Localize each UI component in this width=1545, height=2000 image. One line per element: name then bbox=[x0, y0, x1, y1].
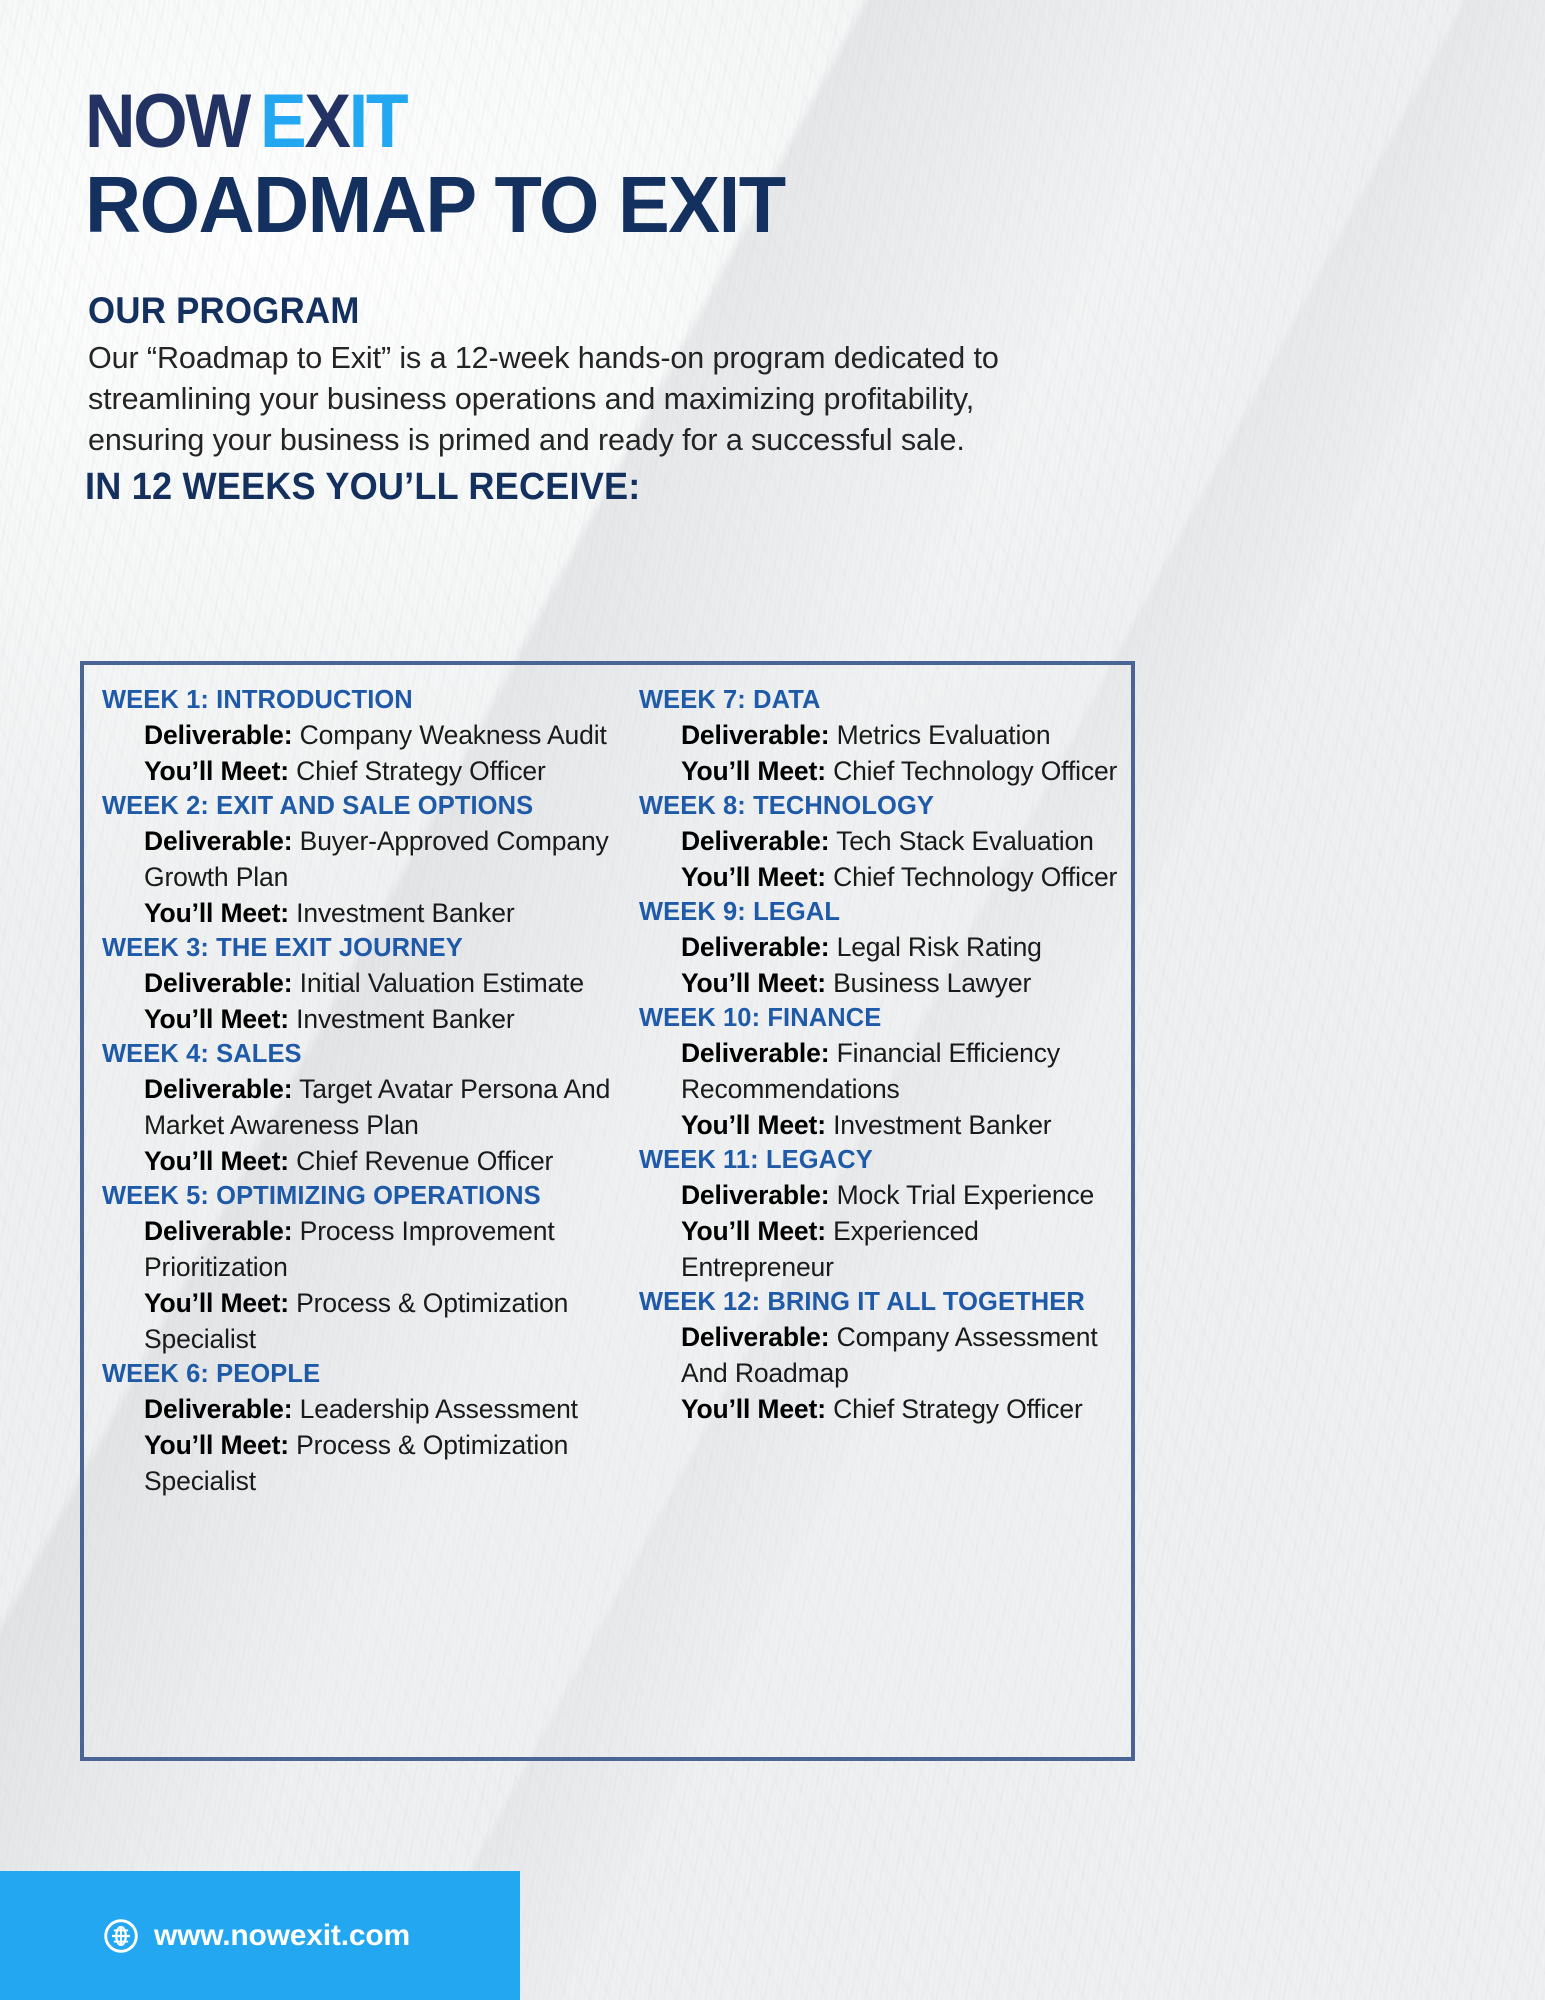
week-deliverable-line: Deliverable: Metrics Evaluation bbox=[681, 717, 1127, 753]
week-details: Deliverable: Target Avatar Persona And M… bbox=[102, 1071, 618, 1179]
meet-label: You’ll Meet: bbox=[144, 1430, 289, 1460]
weeks-column-right: WEEK 7: DATADeliverable: Metrics Evaluat… bbox=[622, 665, 1131, 1757]
deliverable-label: Deliverable: bbox=[681, 1038, 829, 1068]
weeks-column-left: WEEK 1: INTRODUCTIONDeliverable: Company… bbox=[84, 665, 622, 1757]
footer-bar: www.nowexit.com bbox=[0, 1871, 520, 2000]
week-title: WEEK 8: TECHNOLOGY bbox=[639, 789, 1127, 823]
week-entry: WEEK 8: TECHNOLOGYDeliverable: Tech Stac… bbox=[639, 789, 1127, 895]
week-entry: WEEK 5: OPTIMIZING OPERATIONSDeliverable… bbox=[102, 1179, 618, 1357]
week-entry: WEEK 4: SALESDeliverable: Target Avatar … bbox=[102, 1037, 618, 1179]
week-entry: WEEK 1: INTRODUCTIONDeliverable: Company… bbox=[102, 683, 618, 789]
week-deliverable-line: Deliverable: Mock Trial Experience bbox=[681, 1177, 1127, 1213]
deliverable-value: Initial Valuation Estimate bbox=[292, 968, 584, 998]
week-details: Deliverable: Mock Trial ExperienceYou’ll… bbox=[639, 1177, 1127, 1285]
deliverable-value: Tech Stack Evaluation bbox=[829, 826, 1093, 856]
logo-now-text: NOW bbox=[85, 79, 249, 164]
deliverable-value: Metrics Evaluation bbox=[829, 720, 1050, 750]
week-title: WEEK 12: BRING IT ALL TOGETHER bbox=[639, 1285, 1127, 1319]
week-title: WEEK 5: OPTIMIZING OPERATIONS bbox=[102, 1179, 618, 1213]
week-title: WEEK 4: SALES bbox=[102, 1037, 618, 1071]
week-entry: WEEK 9: LEGALDeliverable: Legal Risk Rat… bbox=[639, 895, 1127, 1001]
deliverable-label: Deliverable: bbox=[681, 1180, 829, 1210]
meet-label: You’ll Meet: bbox=[144, 1288, 289, 1318]
meet-label: You’ll Meet: bbox=[144, 1146, 289, 1176]
meet-value: Investment Banker bbox=[289, 898, 515, 928]
week-deliverable-line: Deliverable: Company Assessment And Road… bbox=[681, 1319, 1127, 1391]
week-meet-line: You’ll Meet: Process & Optimization Spec… bbox=[144, 1285, 618, 1357]
week-entry: WEEK 10: FINANCEDeliverable: Financial E… bbox=[639, 1001, 1127, 1143]
week-details: Deliverable: Process Improvement Priorit… bbox=[102, 1213, 618, 1357]
week-title: WEEK 2: EXIT AND SALE OPTIONS bbox=[102, 789, 618, 823]
week-deliverable-line: Deliverable: Company Weakness Audit bbox=[144, 717, 618, 753]
meet-label: You’ll Meet: bbox=[144, 756, 289, 786]
week-deliverable-line: Deliverable: Tech Stack Evaluation bbox=[681, 823, 1127, 859]
meet-label: You’ll Meet: bbox=[681, 968, 826, 998]
deliverable-label: Deliverable: bbox=[144, 826, 292, 856]
week-title: WEEK 10: FINANCE bbox=[639, 1001, 1127, 1035]
our-program-heading: OUR PROGRAM bbox=[88, 290, 360, 332]
week-deliverable-line: Deliverable: Financial Efficiency Recomm… bbox=[681, 1035, 1127, 1107]
week-entry: WEEK 7: DATADeliverable: Metrics Evaluat… bbox=[639, 683, 1127, 789]
week-title: WEEK 9: LEGAL bbox=[639, 895, 1127, 929]
week-entry: WEEK 11: LEGACYDeliverable: Mock Trial E… bbox=[639, 1143, 1127, 1285]
week-meet-line: You’ll Meet: Chief Strategy Officer bbox=[144, 753, 618, 789]
deliverable-label: Deliverable: bbox=[681, 1322, 829, 1352]
week-meet-line: You’ll Meet: Chief Technology Officer bbox=[681, 859, 1127, 895]
logo-x-letter: X bbox=[304, 79, 348, 164]
week-deliverable-line: Deliverable: Leadership Assessment bbox=[144, 1391, 618, 1427]
week-meet-line: You’ll Meet: Chief Revenue Officer bbox=[144, 1143, 618, 1179]
week-details: Deliverable: Leadership AssessmentYou’ll… bbox=[102, 1391, 618, 1499]
deliverable-value: Mock Trial Experience bbox=[829, 1180, 1094, 1210]
meet-value: Investment Banker bbox=[289, 1004, 515, 1034]
week-details: Deliverable: Legal Risk RatingYou’ll Mee… bbox=[639, 929, 1127, 1001]
week-deliverable-line: Deliverable: Target Avatar Persona And M… bbox=[144, 1071, 618, 1143]
week-details: Deliverable: Company Weakness AuditYou’l… bbox=[102, 717, 618, 789]
week-entry: WEEK 3: THE EXIT JOURNEYDeliverable: Ini… bbox=[102, 931, 618, 1037]
deliverable-label: Deliverable: bbox=[144, 1216, 292, 1246]
meet-value: Chief Technology Officer bbox=[826, 756, 1117, 786]
week-details: Deliverable: Financial Efficiency Recomm… bbox=[639, 1035, 1127, 1143]
meet-label: You’ll Meet: bbox=[144, 1004, 289, 1034]
week-title: WEEK 6: PEOPLE bbox=[102, 1357, 618, 1391]
week-entry: WEEK 2: EXIT AND SALE OPTIONSDeliverable… bbox=[102, 789, 618, 931]
week-title: WEEK 7: DATA bbox=[639, 683, 1127, 717]
week-deliverable-line: Deliverable: Process Improvement Priorit… bbox=[144, 1213, 618, 1285]
website-url[interactable]: www.nowexit.com bbox=[154, 1919, 410, 1953]
intro-paragraph: Our “Roadmap to Exit” is a 12-week hands… bbox=[88, 338, 1048, 461]
weeks-box: WEEK 1: INTRODUCTIONDeliverable: Company… bbox=[80, 661, 1135, 1761]
logo-it-letters: IT bbox=[349, 79, 407, 164]
meet-label: You’ll Meet: bbox=[681, 756, 826, 786]
week-meet-line: You’ll Meet: Process & Optimization Spec… bbox=[144, 1427, 618, 1499]
deliverable-label: Deliverable: bbox=[681, 720, 829, 750]
week-deliverable-line: Deliverable: Legal Risk Rating bbox=[681, 929, 1127, 965]
deliverable-label: Deliverable: bbox=[144, 968, 292, 998]
meet-label: You’ll Meet: bbox=[681, 1216, 826, 1246]
globe-icon bbox=[104, 1919, 138, 1953]
week-details: Deliverable: Initial Valuation EstimateY… bbox=[102, 965, 618, 1037]
deliverable-value: Company Weakness Audit bbox=[292, 720, 606, 750]
logo-e-letter: E bbox=[260, 79, 304, 164]
week-deliverable-line: Deliverable: Buyer-Approved Company Grow… bbox=[144, 823, 618, 895]
deliverable-label: Deliverable: bbox=[681, 932, 829, 962]
week-meet-line: You’ll Meet: Investment Banker bbox=[144, 895, 618, 931]
meet-value: Business Lawyer bbox=[826, 968, 1031, 998]
week-meet-line: You’ll Meet: Chief Strategy Officer bbox=[681, 1391, 1127, 1427]
weeks-heading: IN 12 WEEKS YOU’LL RECEIVE: bbox=[85, 466, 640, 509]
page-title: ROADMAP TO EXIT bbox=[85, 165, 785, 245]
meet-value: Chief Revenue Officer bbox=[289, 1146, 553, 1176]
week-title: WEEK 3: THE EXIT JOURNEY bbox=[102, 931, 618, 965]
meet-label: You’ll Meet: bbox=[681, 1110, 826, 1140]
week-details: Deliverable: Metrics EvaluationYou’ll Me… bbox=[639, 717, 1127, 789]
week-entry: WEEK 12: BRING IT ALL TOGETHERDeliverabl… bbox=[639, 1285, 1127, 1427]
week-details: Deliverable: Tech Stack EvaluationYou’ll… bbox=[639, 823, 1127, 895]
week-title: WEEK 1: INTRODUCTION bbox=[102, 683, 618, 717]
meet-value: Chief Strategy Officer bbox=[289, 756, 546, 786]
meet-value: Chief Technology Officer bbox=[826, 862, 1117, 892]
meet-label: You’ll Meet: bbox=[681, 1394, 826, 1424]
week-details: Deliverable: Company Assessment And Road… bbox=[639, 1319, 1127, 1427]
week-meet-line: You’ll Meet: Investment Banker bbox=[144, 1001, 618, 1037]
week-meet-line: You’ll Meet: Experienced Entrepreneur bbox=[681, 1213, 1127, 1285]
week-details: Deliverable: Buyer-Approved Company Grow… bbox=[102, 823, 618, 931]
week-meet-line: You’ll Meet: Investment Banker bbox=[681, 1107, 1127, 1143]
week-deliverable-line: Deliverable: Initial Valuation Estimate bbox=[144, 965, 618, 1001]
meet-value: Chief Strategy Officer bbox=[826, 1394, 1083, 1424]
meet-value: Investment Banker bbox=[826, 1110, 1052, 1140]
meet-label: You’ll Meet: bbox=[681, 862, 826, 892]
deliverable-label: Deliverable: bbox=[681, 826, 829, 856]
week-meet-line: You’ll Meet: Business Lawyer bbox=[681, 965, 1127, 1001]
deliverable-label: Deliverable: bbox=[144, 720, 292, 750]
week-meet-line: You’ll Meet: Chief Technology Officer bbox=[681, 753, 1127, 789]
deliverable-value: Legal Risk Rating bbox=[829, 932, 1041, 962]
week-entry: WEEK 6: PEOPLEDeliverable: Leadership As… bbox=[102, 1357, 618, 1499]
meet-label: You’ll Meet: bbox=[144, 898, 289, 928]
deliverable-label: Deliverable: bbox=[144, 1394, 292, 1424]
deliverable-value: Leadership Assessment bbox=[292, 1394, 577, 1424]
deliverable-label: Deliverable: bbox=[144, 1074, 292, 1104]
week-title: WEEK 11: LEGACY bbox=[639, 1143, 1127, 1177]
nowexit-logo: NOWEXIT bbox=[85, 84, 406, 160]
